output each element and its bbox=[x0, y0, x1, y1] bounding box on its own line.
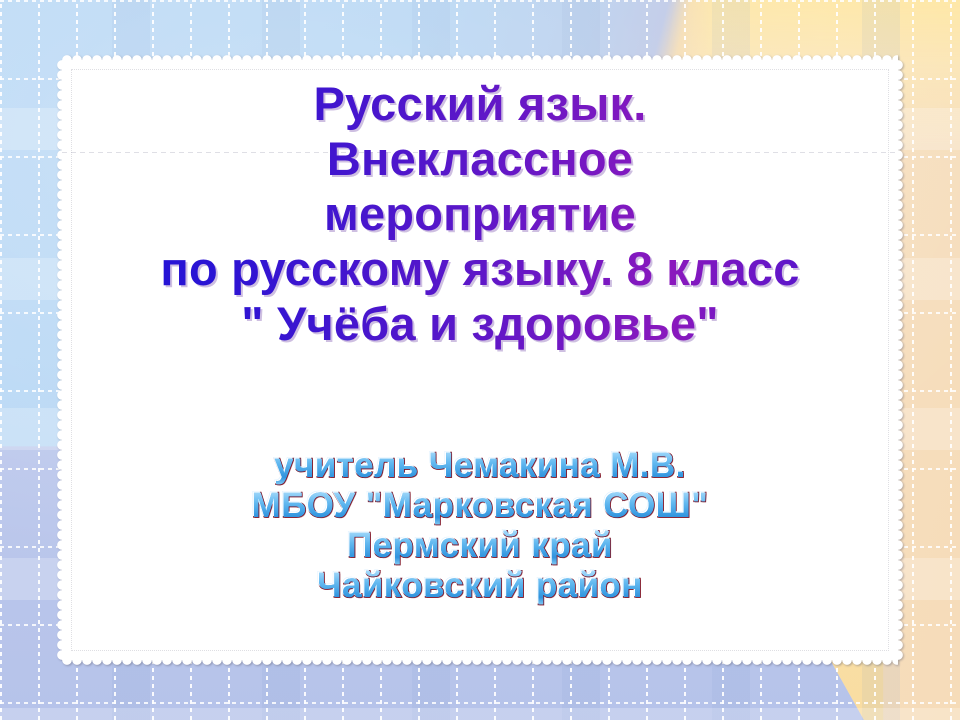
author-line-teacher-text: учитель Чемакина М.В. bbox=[274, 446, 686, 485]
author-line-school: МБОУ "Марковская СОШ" МБОУ "Марковская С… bbox=[0, 486, 960, 526]
slide-title: Русский язык. Внеклассное мероприятие по… bbox=[0, 76, 960, 351]
author-line-region: Пермский край Пермский край bbox=[0, 526, 960, 566]
slide-author-block: учитель Чемакина М.В. учитель Чемакина М… bbox=[0, 446, 960, 606]
title-line-1: Русский язык. bbox=[0, 76, 960, 131]
author-line-region-text: Пермский край bbox=[347, 526, 613, 565]
slide-content: Русский язык. Внеклассное мероприятие по… bbox=[0, 0, 960, 720]
author-line-district-text: Чайковский район bbox=[317, 566, 643, 605]
title-line-3: мероприятие bbox=[0, 186, 960, 241]
author-line-school-text: МБОУ "Марковская СОШ" bbox=[252, 486, 709, 525]
presentation-slide: Русский язык. Внеклассное мероприятие по… bbox=[0, 0, 960, 720]
title-line-5: " Учёба и здоровье" bbox=[0, 296, 960, 351]
title-line-2: Внеклассное bbox=[0, 131, 960, 186]
author-line-teacher: учитель Чемакина М.В. учитель Чемакина М… bbox=[0, 446, 960, 486]
title-line-4: по русскому языку. 8 класс bbox=[0, 241, 960, 296]
author-line-district: Чайковский район Чайковский район bbox=[0, 566, 960, 606]
